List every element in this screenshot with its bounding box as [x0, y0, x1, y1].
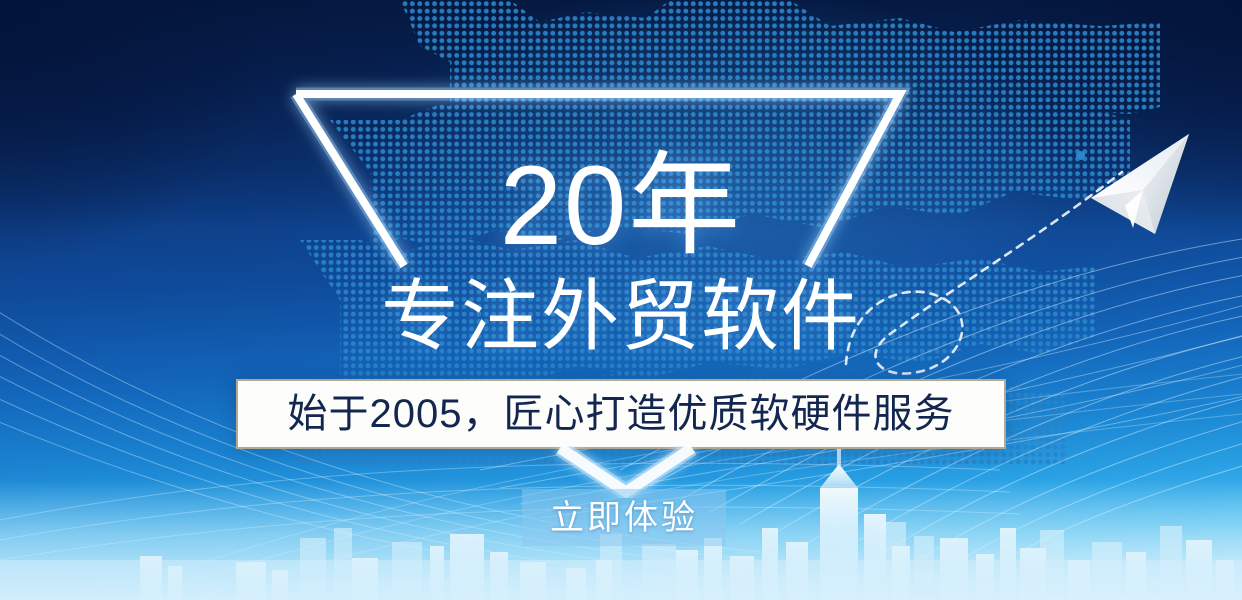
- headline-primary: 20年: [0, 150, 1242, 262]
- headline-secondary: 专注外贸软件: [0, 276, 1242, 356]
- promo-banner: 20年 专注外贸软件 始于2005，匠心打造优质软硬件服务 立即体验: [0, 0, 1242, 600]
- cta-button-label: 立即体验: [550, 499, 698, 537]
- cta-button[interactable]: 立即体验: [522, 489, 726, 546]
- subtitle-bar: 始于2005，匠心打造优质软硬件服务: [236, 379, 1006, 449]
- subtitle-text: 始于2005，匠心打造优质软硬件服务: [288, 392, 955, 436]
